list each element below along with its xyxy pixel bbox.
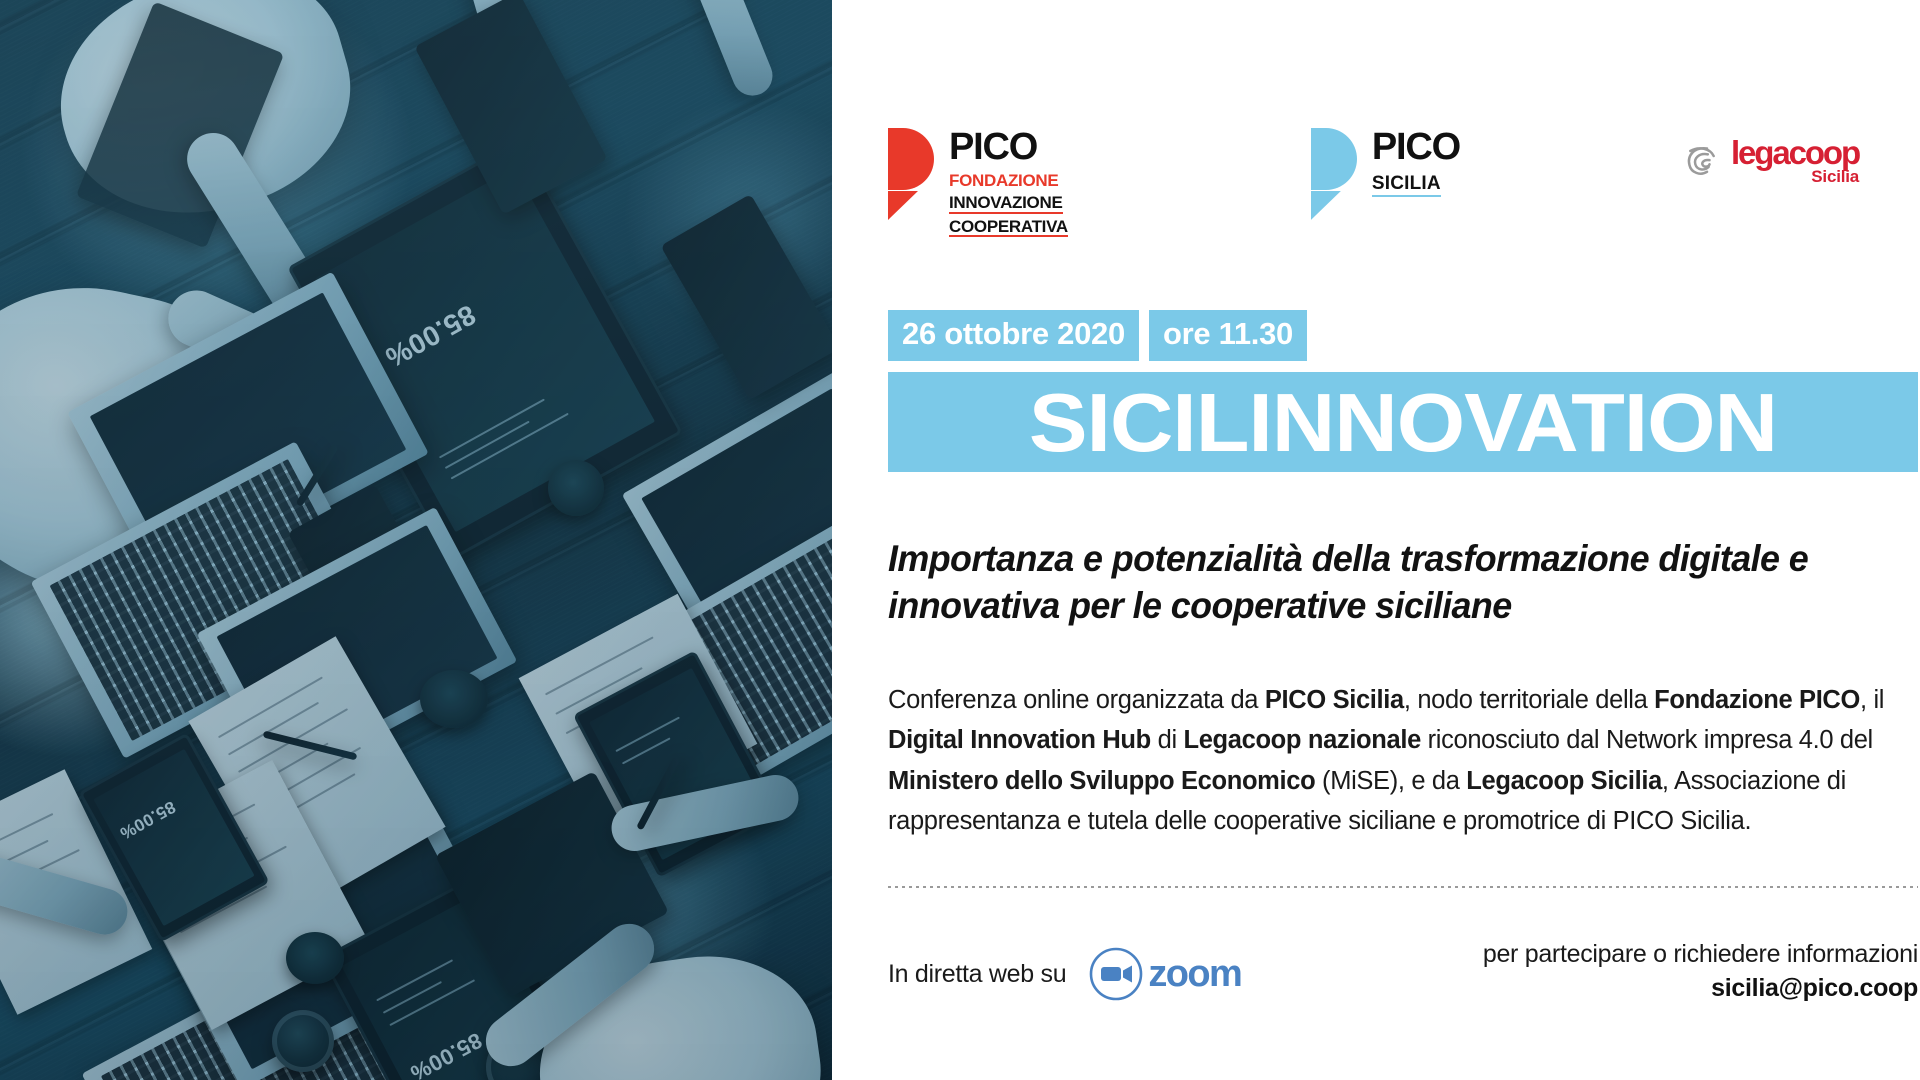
event-poster: 85.00% bbox=[0, 0, 1920, 1080]
logo-bar: PICO FONDAZIONE INNOVAZIONE COOPERATIVA … bbox=[888, 128, 1858, 237]
event-date-chip: 26 ottobre 2020 bbox=[888, 310, 1139, 361]
event-description: Conferenza online organizzata da PICO Si… bbox=[888, 680, 1920, 841]
legacoop-text: legacoop Sicilia bbox=[1731, 136, 1859, 185]
logo-pico-fondazione-text: PICO FONDAZIONE INNOVAZIONE COOPERATIVA bbox=[949, 128, 1068, 237]
contact-email: sicilia@pico.coop bbox=[1483, 972, 1918, 1006]
logo-pico-sicilia-word: PICO bbox=[1372, 130, 1460, 165]
legacoop-swirl-icon bbox=[1682, 141, 1722, 181]
logo-innovazione-label: INNOVAZIONE bbox=[949, 194, 1063, 214]
content-pane: PICO FONDAZIONE INNOVAZIONE COOPERATIVA … bbox=[832, 0, 1920, 1080]
zoom-wordmark: zoom bbox=[1148, 955, 1241, 993]
live-stream-block: In diretta web su zoom bbox=[888, 930, 1241, 1002]
logo-sicilia-label: SICILIA bbox=[1372, 174, 1441, 197]
logo-pico-sicilia-text: PICO SICILIA bbox=[1372, 128, 1460, 197]
logo-legacoop-sicilia: legacoop Sicilia bbox=[1682, 136, 1859, 185]
video-camera-icon bbox=[1088, 946, 1144, 1002]
pico-p-mark-blue-icon bbox=[1311, 128, 1359, 220]
zoom-logo: zoom bbox=[1088, 946, 1241, 1002]
hero-photo: 85.00% bbox=[0, 0, 832, 1080]
event-title: SICILINNOVATION bbox=[1029, 381, 1777, 464]
logo-fondazione-label: FONDAZIONE bbox=[949, 172, 1068, 190]
pico-p-mark-red-icon bbox=[888, 128, 936, 220]
live-label: In diretta web su bbox=[888, 960, 1066, 989]
event-datetime-row: 26 ottobre 2020 ore 11.30 bbox=[888, 310, 1307, 361]
event-title-bar: SICILINNOVATION bbox=[888, 372, 1918, 472]
contact-block: per partecipare o richiedere informazion… bbox=[1483, 930, 1918, 1006]
event-subtitle: Importanza e potenzialità della trasform… bbox=[888, 536, 1897, 630]
logo-cooperativa-label: COOPERATIVA bbox=[949, 218, 1068, 238]
contact-info-line: per partecipare o richiedere informazion… bbox=[1483, 938, 1918, 972]
legacoop-word: legacoop bbox=[1731, 136, 1859, 169]
footer-divider bbox=[888, 886, 1918, 888]
logo-pico-word: PICO bbox=[949, 130, 1068, 165]
poster-footer: In diretta web su zoom per partecipare o… bbox=[888, 930, 1918, 1006]
logo-pico-sicilia: PICO SICILIA bbox=[1311, 128, 1460, 220]
event-time-chip: ore 11.30 bbox=[1149, 310, 1307, 361]
photo-blue-tint bbox=[0, 0, 832, 1080]
legacoop-lockup: legacoop Sicilia bbox=[1682, 136, 1859, 185]
logo-pico-fondazione: PICO FONDAZIONE INNOVAZIONE COOPERATIVA bbox=[888, 128, 1068, 237]
